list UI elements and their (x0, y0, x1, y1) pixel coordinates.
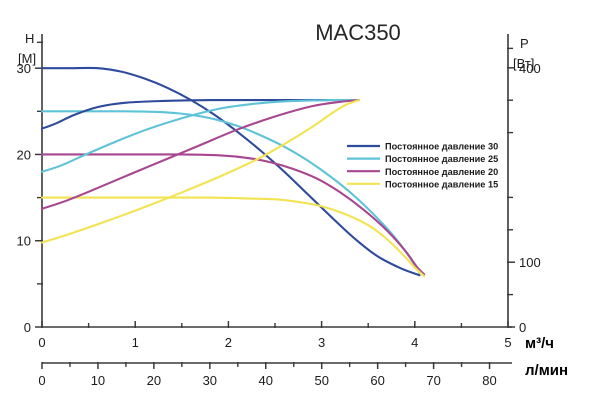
pump-performance-chart: MAC350 H [М] P [Вт] м³/ч л/мин 010203001… (0, 0, 600, 400)
legend-label: Постоянное давление 30 (385, 142, 498, 152)
x-tick-label-secondary: 70 (426, 373, 440, 388)
y2-axis-name: P (520, 36, 529, 51)
y-axis-name: H (25, 31, 34, 46)
curve-head-постоянное-давление-15 (42, 198, 424, 277)
curve-power-p-30 (42, 100, 359, 129)
x-tick-label-secondary: 60 (370, 373, 384, 388)
legend: Постоянное давление 30Постоянное давлени… (347, 142, 498, 190)
x-tick-label-secondary: 40 (259, 373, 273, 388)
x-tick-label-primary: 0 (38, 335, 45, 350)
x-tick-label-secondary: 30 (203, 373, 217, 388)
y2-tick-label: 0 (519, 320, 526, 335)
x-axis-unit-primary: м³/ч (525, 335, 554, 352)
x-tick-label-primary: 4 (411, 335, 418, 350)
x-tick-label-primary: 3 (318, 335, 325, 350)
y-tick-label: 0 (24, 320, 31, 335)
curve-head-постоянное-давление-20 (42, 154, 424, 274)
legend-label: Постоянное давление 15 (385, 179, 498, 189)
legend-label: Постоянное давление 20 (385, 167, 498, 177)
x-tick-label-primary: 5 (504, 335, 511, 350)
y-tick-label: 30 (17, 61, 31, 76)
x-tick-label-primary: 1 (132, 335, 139, 350)
x-tick-label-primary: 2 (225, 335, 232, 350)
legend-label: Постоянное давление 25 (385, 154, 498, 164)
y2-tick-label: 400 (519, 61, 541, 76)
y-tick-label: 10 (17, 234, 31, 249)
axes-layer: 0102030010040001234501020304050607080 (17, 34, 541, 388)
y2-tick-label: 100 (519, 255, 541, 270)
curve-head-постоянное-давление-25 (42, 111, 419, 272)
x-tick-label-secondary: 50 (314, 373, 328, 388)
y-tick-label: 20 (17, 147, 31, 162)
x-tick-label-secondary: 0 (38, 373, 45, 388)
chart-title: MAC350 (315, 20, 401, 45)
curve-power-p-15 (42, 100, 359, 242)
chart-svg: MAC350 H [М] P [Вт] м³/ч л/мин 010203001… (0, 0, 600, 400)
x-axis-unit-secondary: л/мин (525, 362, 568, 379)
x-tick-label-secondary: 10 (91, 373, 105, 388)
x-tick-label-secondary: 80 (482, 373, 496, 388)
x-tick-label-secondary: 20 (147, 373, 161, 388)
